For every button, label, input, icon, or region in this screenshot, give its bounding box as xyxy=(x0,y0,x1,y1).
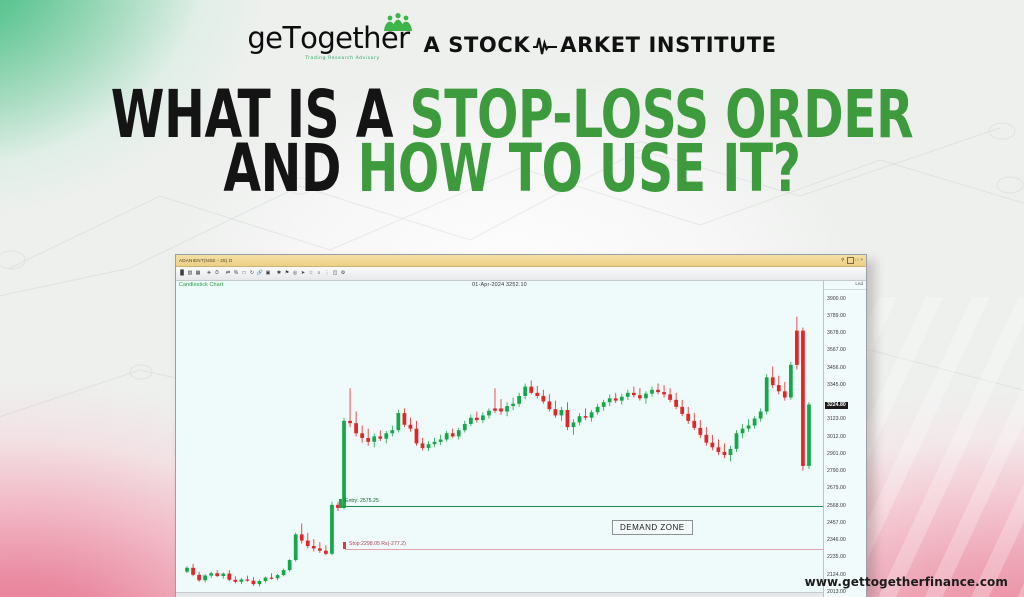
candlestick-plot[interactable]: Candlestick Chart 01-Apr-2024 3252.10 En… xyxy=(176,281,823,597)
price-axis-label: 2235.00 xyxy=(827,555,846,560)
zoom-icon[interactable]: ⌕ xyxy=(315,269,323,278)
price-axis-label: 2568.00 xyxy=(827,504,846,509)
title-line2-green: HOW TO USE IT? xyxy=(358,130,801,207)
gettogether-logo: geTogether Trading Research Advisory xyxy=(247,24,409,61)
price-axis-label: 3224.80 xyxy=(825,402,848,409)
price-axis-label: 2457.00 xyxy=(827,521,846,526)
link-icon[interactable]: 🔗 xyxy=(256,269,264,278)
poster-canvas: geTogether Trading Research Advisory A S… xyxy=(0,0,1024,597)
price-axis-label: 2013.00 xyxy=(827,590,846,595)
pulse-icon xyxy=(532,34,558,56)
chart-window-wrapper: ADANIENT(NSE - 25) D ⚲ □ × █ ▧ ▦ ⎈ ⏱ ⇄ %… xyxy=(175,254,869,597)
price-axis-label: 3900.00 xyxy=(827,297,846,302)
demand-zone-box: DEMAND ZONE xyxy=(612,520,693,535)
chart-window[interactable]: ADANIENT(NSE - 25) D ⚲ □ × █ ▧ ▦ ⎈ ⏱ ⇄ %… xyxy=(175,254,867,597)
logo-wordmark: geTogether xyxy=(247,24,409,54)
target-icon[interactable]: ◎ xyxy=(291,269,299,278)
refresh-icon[interactable]: ↻ xyxy=(248,269,256,278)
magnet-icon[interactable]: ⎈ xyxy=(205,269,213,278)
indicator-icon[interactable]: ⋮ xyxy=(323,269,331,278)
logo-text-t: T xyxy=(282,21,300,56)
axis-header-label: Lnd xyxy=(824,281,866,290)
price-axis-label: 2790.00 xyxy=(827,469,846,474)
stop-label: Stop:2298.05 Rs(-277.2) xyxy=(349,542,406,547)
star-icon[interactable]: ✱ xyxy=(275,269,283,278)
horizontal-scrollbar[interactable] xyxy=(176,592,823,597)
price-axis-label: 2901.00 xyxy=(827,452,846,457)
people-group-icon xyxy=(381,12,415,32)
title-line2-black: AND xyxy=(223,130,341,207)
minimize-icon[interactable] xyxy=(847,257,854,264)
price-axis[interactable]: Lnd 3900.003789.003678.003567.003456.003… xyxy=(823,281,866,597)
window-titlebar[interactable]: ADANIENT(NSE - 25) D ⚲ □ × xyxy=(176,255,866,267)
window-controls[interactable]: ⚲ □ × xyxy=(841,257,863,264)
entry-marker-icon xyxy=(339,499,342,508)
bell-icon[interactable]: ☆ xyxy=(307,269,315,278)
logo-tagline: Trading Research Advisory xyxy=(305,56,379,61)
close-icon[interactable]: × xyxy=(860,258,863,263)
cursor-icon[interactable]: █ xyxy=(178,269,186,278)
pointer-icon[interactable]: ➤ xyxy=(299,269,307,278)
entry-level-line xyxy=(341,506,823,507)
compare-icon[interactable]: ⇄ xyxy=(224,269,232,278)
logo-text-ge: ge xyxy=(247,21,282,55)
calendar-icon[interactable]: ▣ xyxy=(264,269,272,278)
entry-label: Entry: 2575.25 xyxy=(345,499,379,504)
rectangle-icon[interactable]: □ xyxy=(240,269,248,278)
price-axis-label: 3012.00 xyxy=(827,435,846,440)
price-axis-label: 3567.00 xyxy=(827,348,846,353)
flag-icon[interactable]: ⚑ xyxy=(283,269,291,278)
clock-icon[interactable]: ⏱ xyxy=(213,269,221,278)
bar-chart-icon[interactable]: ▧ xyxy=(186,269,194,278)
window-title-text: ADANIENT(NSE - 25) D xyxy=(179,258,233,263)
price-axis-label: 3678.00 xyxy=(827,331,846,336)
institute-title: A STOCK ARKET INSTITUTE xyxy=(423,33,776,57)
price-axis-label: 2346.00 xyxy=(827,538,846,543)
price-axis-label: 2679.00 xyxy=(827,486,846,491)
candlestick-icon[interactable]: ▦ xyxy=(194,269,202,278)
chart-area[interactable]: Candlestick Chart 01-Apr-2024 3252.10 En… xyxy=(176,281,866,597)
price-axis-label: 3345.00 xyxy=(827,383,846,388)
ruler-icon[interactable]: ◫ xyxy=(331,269,339,278)
stop-level-line xyxy=(345,549,823,550)
stop-marker-icon xyxy=(343,542,346,549)
institute-text-post: ARKET INSTITUTE xyxy=(560,33,776,57)
institute-text-pre: A STOCK xyxy=(423,33,530,57)
chart-quote-label: 01-Apr-2024 3252.10 xyxy=(176,282,823,288)
percent-icon[interactable]: % xyxy=(232,269,240,278)
window-extra-icon[interactable]: ⚲ xyxy=(841,258,844,263)
chart-toolbar[interactable]: █ ▧ ▦ ⎈ ⏱ ⇄ % □ ↻ 🔗 ▣ ✱ ⚑ ◎ ➤ ☆ ⌕ ⋮ xyxy=(176,267,866,281)
page-title: WHAT IS A STOP-LOSS ORDER AND HOW TO USE… xyxy=(0,88,1024,196)
title-line-2: AND HOW TO USE IT? xyxy=(92,142,932,196)
price-axis-label: 3123.00 xyxy=(827,417,846,422)
maximize-icon[interactable]: □ xyxy=(856,258,859,263)
price-axis-label: 3789.00 xyxy=(827,314,846,319)
settings-icon[interactable]: ⚙ xyxy=(339,269,347,278)
brand-header: geTogether Trading Research Advisory A S… xyxy=(0,24,1024,61)
website-url: www.gettogetherfinance.com xyxy=(805,575,1008,589)
price-axis-label: 3456.00 xyxy=(827,366,846,371)
